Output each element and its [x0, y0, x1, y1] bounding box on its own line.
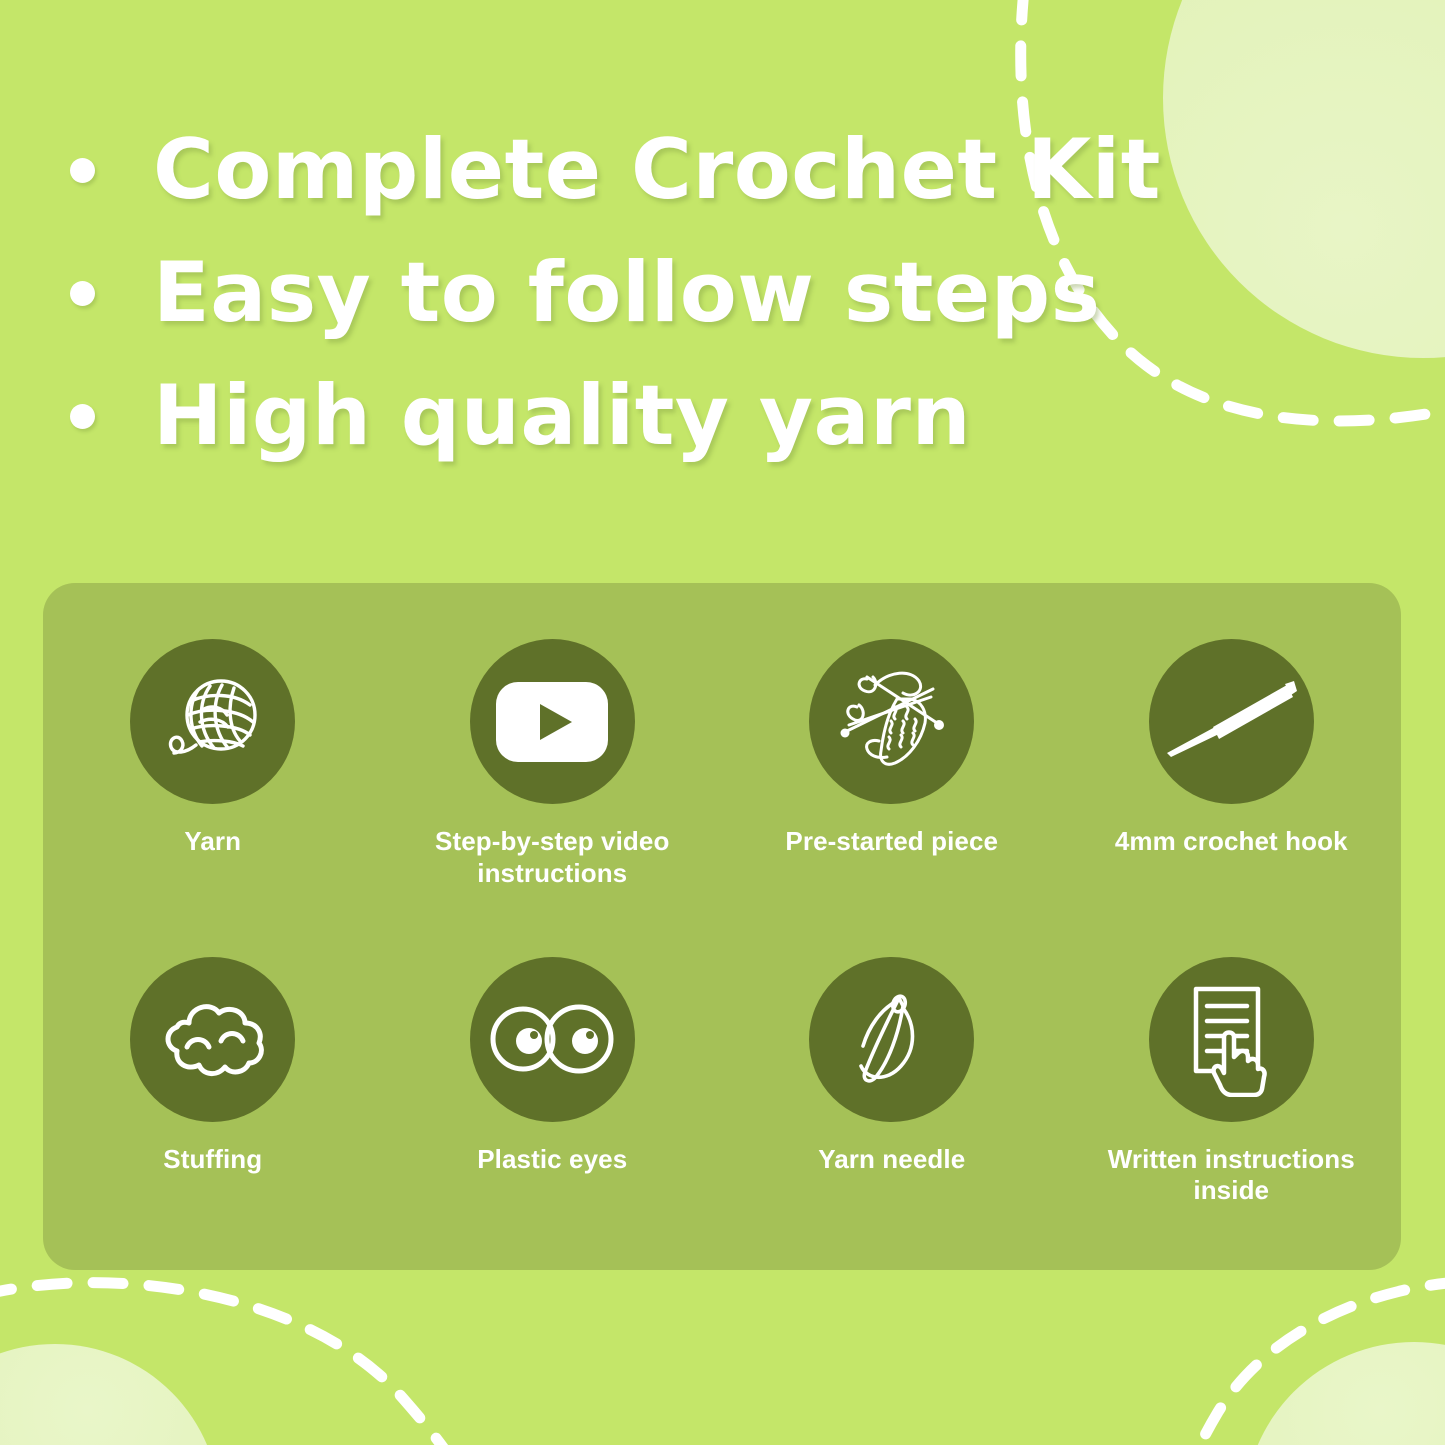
feature-yarn-needle: Yarn needle — [722, 927, 1062, 1271]
feature-label: Pre-started piece — [785, 826, 998, 858]
feature-plastic-eyes: Plastic eyes — [383, 927, 723, 1271]
headline-bullet-text: Easy to follow steps — [153, 251, 1101, 336]
feature-crochet-hook: 4mm crochet hook — [1062, 583, 1402, 927]
play-button-icon[interactable] — [470, 639, 635, 804]
feature-video-instructions: Step-by-step video instructions — [383, 583, 723, 927]
feature-label: Yarn — [184, 826, 241, 858]
cloud-stuffing-icon — [130, 957, 295, 1122]
feature-pre-started-piece: Pre-started piece — [722, 583, 1062, 927]
feature-label: Step-by-step video instructions — [425, 826, 680, 889]
headline-bullet-2: High quality yarn — [70, 374, 971, 459]
bullet-dot-icon — [70, 158, 95, 183]
decor-circle-bottom-right — [1244, 1342, 1445, 1445]
plastic-eyes-icon — [470, 957, 635, 1122]
feature-written-instructions: Written instructions inside — [1062, 927, 1402, 1271]
feature-label: Stuffing — [163, 1144, 262, 1176]
decor-circle-top-right — [1163, 0, 1445, 358]
headline-bullet-1: Easy to follow steps — [70, 251, 1101, 336]
feature-stuffing: Stuffing — [43, 927, 383, 1271]
decor-circle-bottom-left — [0, 1344, 220, 1445]
document-hand-icon — [1149, 957, 1314, 1122]
kit-contents-panel: Yarn Step-by-step video instructions — [43, 583, 1401, 1270]
crochet-hook-icon — [1149, 639, 1314, 804]
feature-label: Yarn needle — [818, 1144, 965, 1176]
headline-bullet-text: High quality yarn — [153, 374, 971, 459]
knitting-work-icon — [809, 639, 974, 804]
feature-yarn: Yarn — [43, 583, 383, 927]
headline-bullet-0: Complete Crochet Kit — [70, 128, 1161, 213]
promo-graphic: Complete Crochet Kit Easy to follow step… — [0, 0, 1445, 1445]
yarn-needle-icon — [809, 957, 974, 1122]
feature-label: Written instructions inside — [1104, 1144, 1359, 1207]
kit-contents-grid: Yarn Step-by-step video instructions — [43, 583, 1401, 1270]
bullet-dot-icon — [70, 404, 95, 429]
feature-label: Plastic eyes — [477, 1144, 627, 1176]
headline-bullet-text: Complete Crochet Kit — [153, 128, 1161, 213]
bullet-dot-icon — [70, 281, 95, 306]
yarn-ball-icon — [130, 639, 295, 804]
feature-label: 4mm crochet hook — [1115, 826, 1348, 858]
